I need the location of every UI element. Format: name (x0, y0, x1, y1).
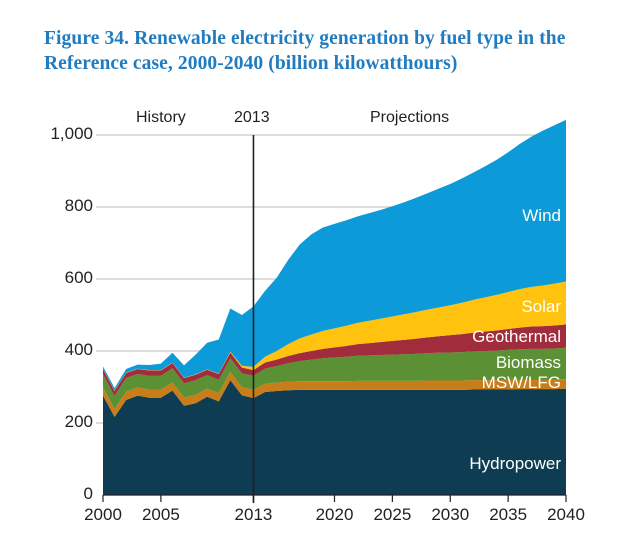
chart-svg (0, 0, 623, 553)
y-axis-tick-label: 0 (31, 484, 93, 504)
y-axis-tick-label: 200 (31, 412, 93, 432)
y-axis-tick-label: 1,000 (31, 124, 93, 144)
history-label: History (136, 109, 186, 127)
divider-year-label: 2013 (234, 109, 270, 127)
x-axis-tick-label: 2013 (213, 505, 293, 525)
projections-label: Projections (370, 109, 449, 127)
y-axis-tick-label: 800 (31, 196, 93, 216)
y-axis-tick-label: 400 (31, 340, 93, 360)
x-axis-tick-label: 2005 (121, 505, 201, 525)
area-series-hydropower (103, 380, 566, 495)
stacked-area-chart: 02004006008001,0002000200520132020202520… (0, 0, 623, 553)
x-axis-tick-label: 2040 (526, 505, 606, 525)
y-axis-tick-label: 600 (31, 268, 93, 288)
